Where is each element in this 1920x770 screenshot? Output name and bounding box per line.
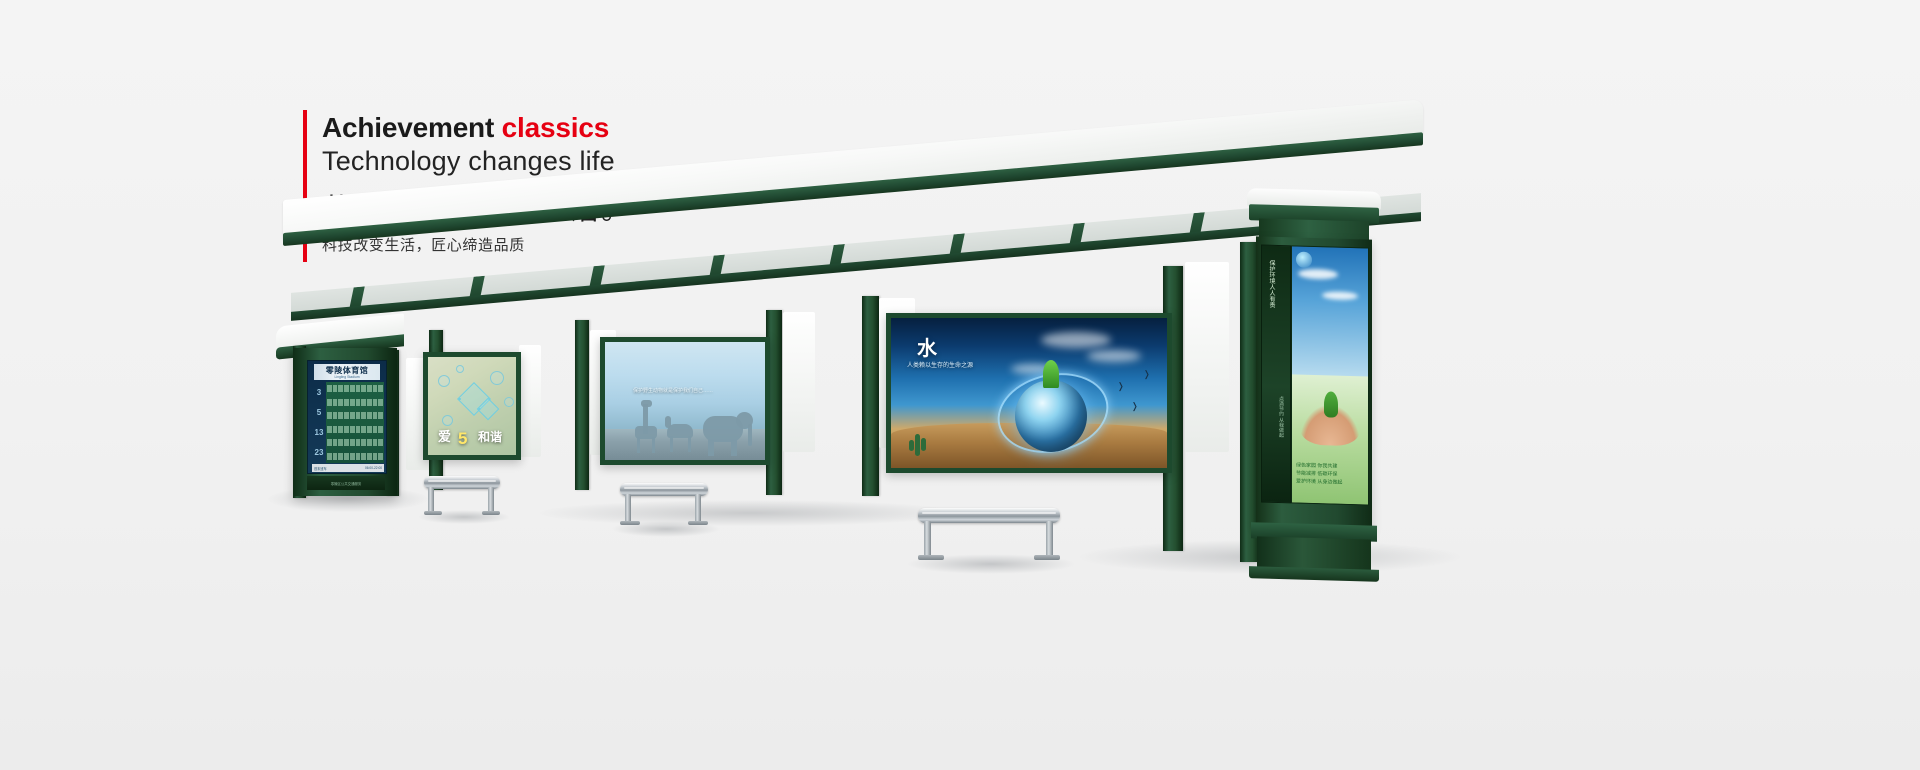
love-poster-art: 爱 5 和谐 bbox=[428, 357, 516, 455]
bench-leg bbox=[695, 494, 701, 523]
sprout-icon bbox=[1043, 360, 1059, 388]
tower-body: 保护环境人人有责 点滴节约 从我做起 绿色家园 你我共建 节能减排 低碳环保 爱… bbox=[1256, 236, 1372, 529]
earth-orb bbox=[1015, 380, 1087, 452]
animal-poster-art: 保护野生动物就是保护我们自己…… bbox=[605, 342, 765, 460]
bench-foot bbox=[1034, 555, 1060, 560]
eco-logo-icon bbox=[1296, 251, 1312, 267]
scene-canvas: Achievement classics Technology changes … bbox=[0, 0, 1920, 770]
route-stop-rows bbox=[326, 382, 384, 463]
elephant-silhouette bbox=[708, 440, 714, 456]
cactus-icon bbox=[909, 440, 914, 451]
bench-1 bbox=[424, 476, 500, 520]
decor-bubble bbox=[456, 365, 464, 373]
schedule-footer: 首末班车 06:00-22:00 bbox=[312, 464, 384, 472]
giraffe-silhouette bbox=[637, 437, 640, 453]
tower-poster[interactable]: 绿色家园 你我共建 节能减排 低碳环保 爱护环境 从身边做起 bbox=[1291, 245, 1369, 505]
route-row bbox=[326, 453, 384, 460]
decor-bubble bbox=[442, 415, 453, 426]
bench-foot bbox=[688, 521, 708, 525]
bird-icon: ❭ bbox=[1117, 382, 1125, 391]
decor-cloud bbox=[1041, 332, 1111, 348]
elephant-silhouette bbox=[731, 440, 737, 456]
sprout-icon bbox=[1324, 391, 1338, 417]
love-number: 5 bbox=[458, 429, 467, 449]
route-number: 13 bbox=[315, 428, 324, 437]
schedule-footer-left: 首末班车 bbox=[314, 466, 327, 471]
route-row bbox=[326, 399, 384, 406]
water-title: 水 bbox=[917, 332, 937, 361]
water-poster-art: ❭ ❭ ❭ 水 人类赖以生存的生命之源 bbox=[891, 318, 1167, 468]
tower-vertical-sub: 点滴节约 从我做起 bbox=[1277, 396, 1285, 438]
bench-foot bbox=[424, 511, 442, 515]
bench-leg bbox=[428, 487, 434, 513]
love-title: 爱 bbox=[438, 426, 451, 445]
route-row bbox=[326, 412, 384, 419]
station-name-plate: 零陵体育馆 Lingling Stadium bbox=[314, 364, 380, 380]
giraffe-silhouette bbox=[641, 400, 652, 407]
bus-shelter-render: 零陵体育馆 Lingling Stadium 3 5 13 23 bbox=[0, 0, 1920, 770]
route-grid: 3 5 13 23 bbox=[312, 382, 384, 463]
post-cap bbox=[519, 345, 541, 457]
tower-green-text-1: 绿色家园 你我共建 bbox=[1296, 462, 1337, 469]
tower-green-text-2: 节能减排 低碳环保 bbox=[1296, 470, 1337, 477]
bird-icon: ❭ bbox=[1143, 370, 1151, 379]
decor-cloud bbox=[1087, 350, 1141, 362]
tower-vertical-headline: 保护环境人人有责 bbox=[1267, 260, 1275, 308]
bench-foot bbox=[620, 521, 640, 525]
route-number: 5 bbox=[317, 408, 321, 417]
decor-bubble bbox=[438, 375, 450, 387]
support-post bbox=[575, 320, 589, 490]
schedule-kiosk[interactable]: 零陵体育馆 Lingling Stadium 3 5 13 23 bbox=[293, 348, 397, 496]
tower-side-strip: 保护环境人人有责 点滴节约 从我做起 bbox=[1261, 245, 1291, 504]
decor-bubble bbox=[490, 371, 504, 385]
ground-shadow-mid bbox=[540, 500, 960, 526]
schedule-footer-right: 06:00-22:00 bbox=[365, 466, 382, 470]
bench-3 bbox=[918, 508, 1060, 566]
station-name-en: Lingling Stadium bbox=[334, 375, 359, 379]
ad-panel-animal[interactable]: 保护野生动物就是保护我们自己…… bbox=[600, 337, 770, 465]
cactus-icon bbox=[921, 438, 926, 451]
bench-leg bbox=[924, 521, 931, 557]
route-row bbox=[326, 385, 384, 392]
route-row bbox=[326, 439, 384, 446]
kiosk-sub-caption: 零陵区公共交通服务 bbox=[307, 476, 385, 490]
route-number: 23 bbox=[315, 448, 324, 457]
decor-bubble bbox=[504, 397, 514, 407]
vertical-lightbox-tower[interactable]: 保护环境人人有责 点滴节约 从我做起 绿色家园 你我共建 节能减排 低碳环保 爱… bbox=[1253, 190, 1375, 580]
tower-base-lower bbox=[1249, 566, 1379, 582]
station-name-cn: 零陵体育馆 bbox=[326, 366, 369, 375]
animal-caption: 保护野生动物就是保护我们自己…… bbox=[633, 387, 713, 394]
love-subtitle: 和谐 bbox=[478, 428, 502, 445]
post-cap bbox=[783, 312, 815, 452]
water-subtitle: 人类赖以生存的生命之源 bbox=[907, 360, 973, 369]
schedule-board[interactable]: 零陵体育馆 Lingling Stadium 3 5 13 23 bbox=[307, 360, 387, 474]
bench-leg bbox=[1046, 521, 1053, 557]
bird-icon: ❭ bbox=[1131, 402, 1139, 411]
post-cap bbox=[1185, 262, 1229, 452]
bench-seat bbox=[918, 508, 1060, 523]
elephant-silhouette bbox=[748, 424, 752, 446]
bench-2 bbox=[620, 483, 708, 531]
route-row bbox=[326, 426, 384, 433]
route-number-column: 3 5 13 23 bbox=[312, 382, 326, 463]
camel-silhouette bbox=[688, 436, 691, 452]
camel-silhouette bbox=[665, 416, 671, 428]
route-number: 3 bbox=[317, 388, 321, 397]
bench-foot bbox=[482, 511, 500, 515]
support-post bbox=[862, 296, 879, 496]
bench-leg bbox=[625, 494, 631, 523]
bench-leg bbox=[488, 487, 494, 513]
ad-panel-love[interactable]: 爱 5 和谐 bbox=[423, 352, 521, 460]
bench-foot bbox=[918, 555, 944, 560]
tower-green-text-3: 爱护环境 从身边做起 bbox=[1296, 478, 1342, 485]
ad-panel-water[interactable]: ❭ ❭ ❭ 水 人类赖以生存的生命之源 bbox=[886, 313, 1172, 473]
giraffe-silhouette bbox=[652, 437, 655, 453]
cactus-icon bbox=[915, 434, 920, 456]
camel-silhouette bbox=[670, 436, 673, 452]
